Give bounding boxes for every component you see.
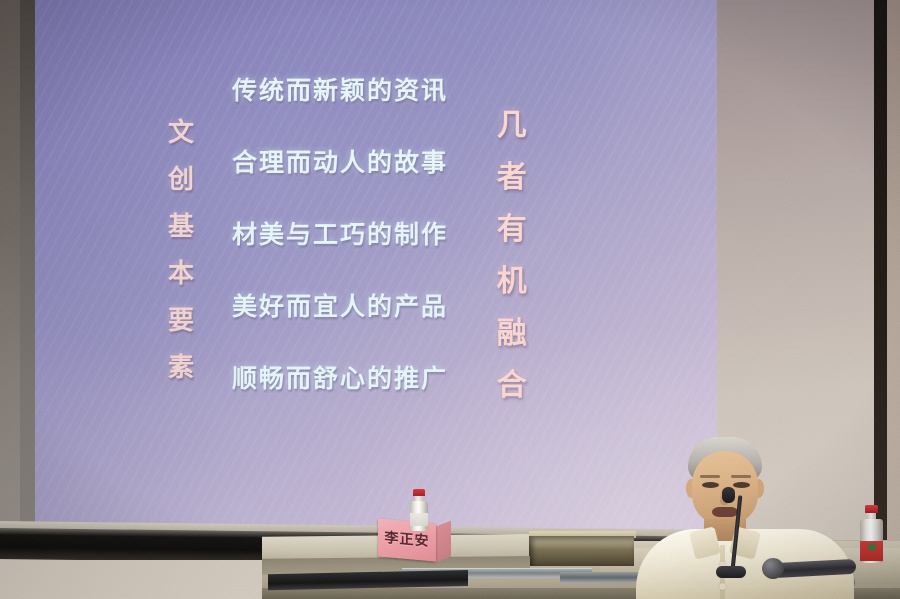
slide-left-vertical-heading: 文 创 基 本 要 素 bbox=[159, 110, 205, 392]
left-char-3: 本 bbox=[159, 251, 205, 298]
bottle-cap-right bbox=[865, 505, 878, 513]
left-char-4: 要 bbox=[159, 298, 205, 345]
projection-screen: 文 创 基 本 要 素 传统而新颖的资讯 合理而动人的故事 材美与工巧的制作 美… bbox=[35, 0, 717, 536]
microphone-capsule bbox=[722, 487, 735, 503]
right-char-5: 合 bbox=[490, 360, 536, 412]
speaker-mouth bbox=[712, 507, 738, 517]
wall-far-right bbox=[887, 0, 900, 599]
right-char-3: 机 bbox=[490, 256, 536, 308]
presentation-slide: 文 创 基 本 要 素 传统而新颖的资讯 合理而动人的故事 材美与工巧的制作 美… bbox=[35, 0, 717, 536]
bottle-cap-left bbox=[413, 489, 425, 496]
left-char-0: 文 bbox=[159, 110, 205, 157]
speaker-shirt-button-2 bbox=[719, 583, 726, 590]
bottle-label-left bbox=[410, 513, 428, 526]
right-char-2: 有 bbox=[490, 204, 536, 256]
slide-line-4: 美好而宜人的产品 bbox=[205, 294, 475, 319]
slide-line-5: 顺畅而舒心的推广 bbox=[205, 366, 475, 391]
handheld-microphone-grille bbox=[762, 558, 784, 579]
right-char-0: 几 bbox=[490, 100, 536, 152]
left-char-1: 创 bbox=[159, 157, 205, 204]
bottle-label-logo bbox=[868, 543, 876, 551]
slide-line-2: 合理而动人的故事 bbox=[205, 150, 475, 175]
slide-line-3: 材美与工巧的制作 bbox=[205, 222, 475, 247]
slide-body-lines: 传统而新颖的资讯 合理而动人的故事 材美与工巧的制作 美好而宜人的产品 顺畅而舒… bbox=[205, 78, 475, 438]
nameplate-side-panel bbox=[434, 521, 451, 564]
right-char-1: 者 bbox=[490, 152, 536, 204]
water-bottle-right bbox=[859, 505, 884, 563]
speaker-eye-right bbox=[733, 482, 750, 488]
speaker-eyebrow-right bbox=[731, 475, 751, 478]
wall-left-shadow bbox=[0, 0, 22, 599]
slide-line-1: 传统而新颖的资讯 bbox=[205, 78, 475, 103]
speaker-eyebrow-left bbox=[700, 475, 720, 478]
left-char-5: 素 bbox=[159, 345, 205, 392]
speaker-eye-left bbox=[702, 482, 719, 488]
right-char-4: 融 bbox=[490, 308, 536, 360]
left-char-2: 基 bbox=[159, 204, 205, 251]
desk-open-compartment bbox=[529, 536, 634, 566]
slide-right-vertical-heading: 几 者 有 机 融 合 bbox=[490, 100, 536, 412]
microphone-base bbox=[716, 566, 746, 578]
water-bottle-left bbox=[409, 489, 429, 531]
table-surface-left bbox=[0, 560, 266, 599]
lecture-hall-photo: 文 创 基 本 要 素 传统而新颖的资讯 合理而动人的故事 材美与工巧的制作 美… bbox=[0, 0, 900, 599]
